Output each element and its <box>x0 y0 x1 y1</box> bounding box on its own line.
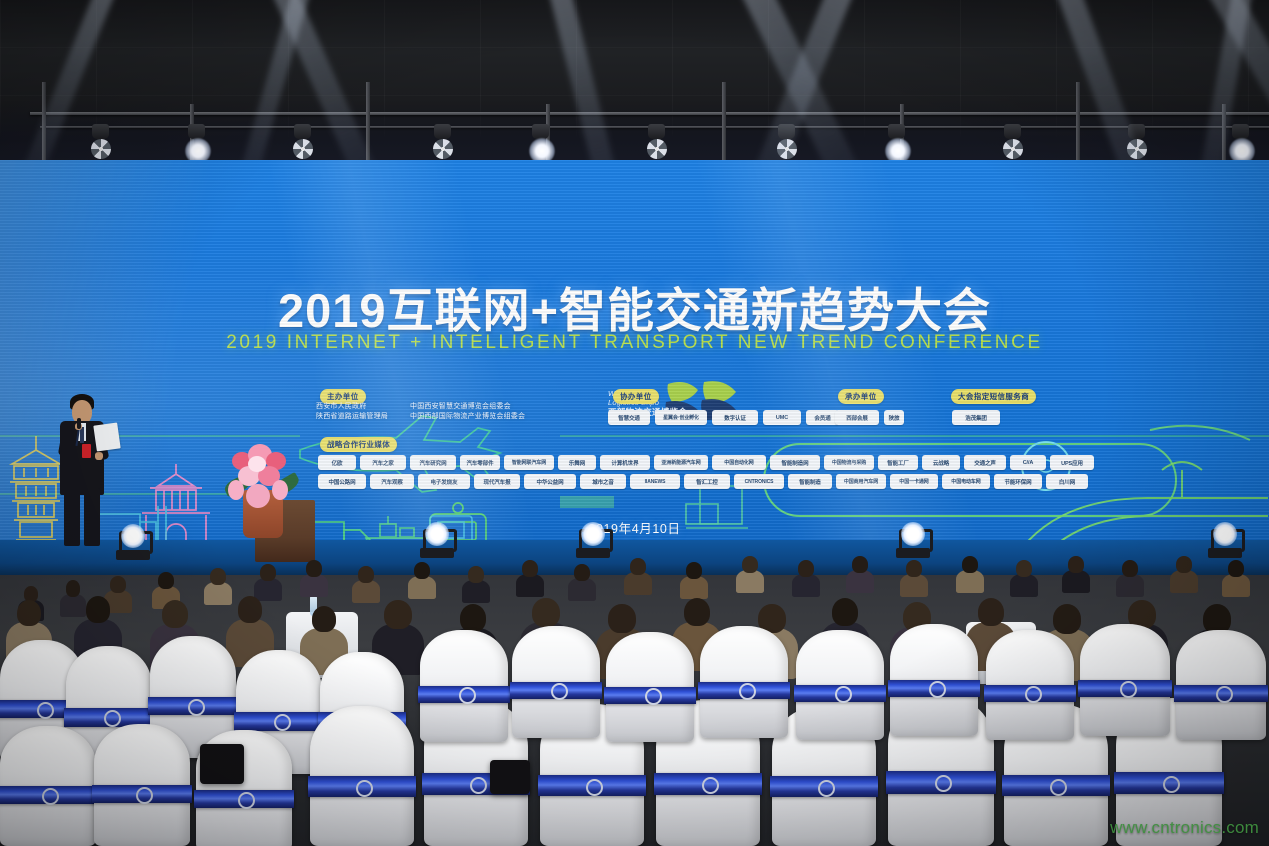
audience-body <box>516 574 544 597</box>
lamp-housing <box>188 124 205 139</box>
speaker-leg <box>64 488 80 546</box>
par-light <box>91 139 111 159</box>
audience-head <box>306 560 322 577</box>
audience-member <box>956 556 984 592</box>
par-light <box>777 139 797 159</box>
sash-buckle <box>459 687 476 704</box>
truss-post <box>1222 104 1226 166</box>
audience-body <box>568 578 596 601</box>
light-head <box>581 522 605 546</box>
audience-member <box>1222 560 1250 596</box>
par-light <box>293 139 313 159</box>
media-logo-chip: 中华公益网 <box>524 474 576 489</box>
audience-body <box>846 570 874 593</box>
audience-head <box>522 560 538 577</box>
media-logo-chip: C//A <box>1010 455 1046 470</box>
audience-head <box>574 564 590 581</box>
audience-head <box>684 598 710 626</box>
chair <box>700 626 788 738</box>
media-logo-chip: 交通之声 <box>964 455 1006 470</box>
audience-body <box>956 570 984 593</box>
chair <box>512 626 600 738</box>
media-logo-chip: 汽车研究网 <box>410 455 456 470</box>
audience-head <box>238 596 263 623</box>
audience-head <box>210 568 226 585</box>
chair <box>420 630 508 742</box>
lamp-housing <box>1004 124 1021 139</box>
sponsor-logo-chip: 数字认证 <box>712 410 758 425</box>
sash-buckle <box>835 686 852 703</box>
light-head <box>425 522 449 546</box>
media-logo-chip: 汽车零部件 <box>460 455 500 470</box>
audience-body <box>680 576 708 599</box>
light-head <box>901 522 925 546</box>
lamp-housing <box>434 124 451 139</box>
speaker-leg <box>84 488 100 546</box>
audience-head <box>66 580 81 597</box>
audience-head <box>162 600 188 628</box>
lamp-housing <box>888 124 905 139</box>
media-logo-chip: 中国商用汽车网 <box>836 474 886 489</box>
audience-member <box>462 566 490 602</box>
truss-post <box>722 82 726 166</box>
moving-head-light <box>1208 518 1242 558</box>
audience-member <box>1116 560 1144 596</box>
audience-head <box>312 606 337 632</box>
audience-body <box>408 576 436 599</box>
led-scanlines <box>0 160 1269 562</box>
chair <box>986 630 1074 740</box>
flower-petal <box>272 480 288 500</box>
audience-member <box>680 562 708 598</box>
audience-member <box>408 562 436 598</box>
media-logo-chip: 智能制造网 <box>770 455 820 470</box>
moving-head-light <box>116 520 150 560</box>
pill-co-organizer: 协办单位 <box>613 389 659 404</box>
audience-head <box>1068 556 1084 573</box>
truss-post <box>1076 82 1080 166</box>
sash-buckle <box>551 683 568 700</box>
audience-head <box>686 562 702 579</box>
moving-head-light <box>420 518 454 558</box>
pill-sms-provider: 大会指定短信服务商 <box>951 389 1036 404</box>
watermark: www.cntronics.com <box>1110 818 1259 838</box>
audience-head <box>414 562 430 579</box>
media-logo-chip: 智能工厂 <box>878 455 918 470</box>
media-logo-chip: 智汇工控 <box>684 474 730 489</box>
sash-buckle <box>702 777 719 794</box>
audience-member <box>624 558 652 594</box>
audience-body <box>1170 570 1198 593</box>
conference-photo: Western Logistics Expo 西部物流交通博览会 2019互联网… <box>0 0 1269 846</box>
sash-buckle <box>1120 681 1137 698</box>
handbag <box>490 760 530 794</box>
lamp-housing <box>532 124 549 139</box>
media-logo-chip: 亚洲新能源汽车网 <box>654 455 708 470</box>
audience-head <box>1122 560 1138 577</box>
par-light <box>433 139 453 159</box>
audience-head <box>742 556 758 573</box>
media-logo-chip: UPS应用 <box>1050 455 1094 470</box>
sash-buckle <box>739 683 756 700</box>
audience-head <box>110 576 126 593</box>
sash-buckle <box>586 779 603 796</box>
sash-buckle <box>929 681 946 698</box>
sash-buckle <box>645 688 662 705</box>
media-logo-chip: 汽车观察 <box>370 474 414 489</box>
flower-petal <box>228 480 244 500</box>
media-logo-chip: 中国一卡通网 <box>890 474 938 489</box>
media-logo-chip: 计算机世界 <box>600 455 650 470</box>
event-date: 2019年4月10日 <box>0 520 1269 538</box>
lamp-housing <box>778 124 795 139</box>
chair <box>94 724 190 846</box>
truss-post <box>366 82 370 166</box>
light-head <box>121 524 145 548</box>
truss-bar-upper <box>30 112 1269 115</box>
chair <box>606 632 694 742</box>
speaker-hand <box>95 452 103 460</box>
audience-head <box>1176 556 1192 573</box>
audience-body <box>462 580 490 603</box>
media-logo-chip: CNTRONICS <box>734 474 784 489</box>
lamp-housing <box>1232 124 1249 139</box>
speech-papers <box>93 422 120 451</box>
media-logo-chip: 智能网联汽车网 <box>504 455 554 470</box>
sash-buckle <box>1025 686 1042 703</box>
audience-head <box>460 604 486 632</box>
audience-body <box>1062 570 1090 593</box>
sponsor-logo-chip: 智慧交通 <box>608 410 650 425</box>
sash-buckle <box>470 777 487 794</box>
audience-member <box>300 560 328 596</box>
media-logo-chip: 智能制造 <box>788 474 832 489</box>
media-logo-chip: 亿欧 <box>318 455 356 470</box>
audience-head <box>532 598 559 627</box>
audience-body <box>900 574 928 597</box>
pill-host: 承办单位 <box>838 389 884 404</box>
media-logo-chip: 现代汽车报 <box>474 474 520 489</box>
audience-body <box>1010 574 1038 597</box>
moving-head-light <box>896 518 930 558</box>
media-logo-chip: 中国物流与采购 <box>824 455 874 470</box>
chair <box>890 624 978 736</box>
flower-petal <box>248 456 266 472</box>
sash-buckle <box>935 775 952 792</box>
audience-member <box>352 566 380 602</box>
audience-member <box>736 556 764 592</box>
audience-member <box>1010 560 1038 596</box>
chair <box>1080 624 1170 736</box>
par-light <box>647 139 667 159</box>
high-speed-rail-green-art <box>764 426 1250 516</box>
audience-head <box>630 558 646 575</box>
page-title: 2019互联网+智能交通新趋势大会 <box>0 272 1269 341</box>
sash-buckle <box>1216 686 1233 703</box>
audience-head <box>1228 560 1244 577</box>
lamp-housing <box>1128 124 1145 139</box>
audience-member <box>516 560 544 596</box>
audience-body <box>1116 574 1144 597</box>
led-backdrop-screen: Western Logistics Expo 西部物流交通博览会 2019互联网… <box>0 160 1269 562</box>
audience-member <box>1170 556 1198 592</box>
media-logo-chip: 中国自动化网 <box>712 455 766 470</box>
moving-head-light <box>576 518 610 558</box>
audience-head <box>852 556 868 573</box>
organizer-line-2: 陕西省道路运输管理局 <box>316 412 388 423</box>
media-logo-chip: 中国电动车网 <box>942 474 990 489</box>
audience-member <box>792 560 820 596</box>
audience-head <box>798 560 814 577</box>
media-logo-chip: 中国公路网 <box>318 474 366 489</box>
sash-buckle <box>188 699 205 716</box>
audience-member <box>900 560 928 596</box>
audience-body <box>1222 574 1250 597</box>
audience-head <box>978 598 1004 626</box>
audience-head <box>158 572 174 589</box>
audience-head <box>832 598 858 626</box>
expo-logo: Western Logistics Expo 西部物流交通博览会 <box>608 378 748 434</box>
sponsor-logo-chip: 浩茂集团 <box>952 410 1000 425</box>
lamp-housing <box>294 124 311 139</box>
audience-head <box>17 600 41 626</box>
organizer-line-4: 中国西部国际物流产业博览会组委会 <box>410 412 525 423</box>
par-light <box>1127 139 1147 159</box>
led-light-sheen <box>0 160 1269 562</box>
sash-buckle <box>818 780 835 797</box>
media-logo-chip: 节能环保网 <box>994 474 1042 489</box>
audience-head <box>468 566 484 583</box>
sponsor-logo-chip: 陕旅 <box>884 410 904 425</box>
par-light <box>1003 139 1023 159</box>
audience-head <box>260 564 276 581</box>
audience-head <box>962 556 978 573</box>
audience-head <box>1016 560 1032 577</box>
audience-member <box>568 564 596 600</box>
pill-media-partners: 战略合作行业媒体 <box>320 437 397 452</box>
sponsor-logo-chip: UMC <box>763 410 801 425</box>
chair <box>1176 630 1266 740</box>
media-logo-chip: 城市之音 <box>580 474 626 489</box>
truss-post <box>42 82 46 166</box>
chair <box>0 726 96 846</box>
audience-body <box>624 572 652 595</box>
audience-member <box>254 564 282 600</box>
sash-buckle <box>37 702 54 719</box>
media-logo-chip: 汽车之家 <box>360 455 406 470</box>
audience-body <box>300 574 328 597</box>
speaker-badge <box>82 444 91 458</box>
microphone <box>77 418 81 429</box>
sash-buckle <box>356 780 373 797</box>
audience-body <box>736 570 764 593</box>
sash-buckle <box>274 714 291 731</box>
audience-head <box>86 596 111 623</box>
sash-buckle <box>1163 776 1180 793</box>
page-subtitle: 2019 INTERNET + INTELLIGENT TRANSPORT NE… <box>0 332 1269 354</box>
lamp-housing <box>648 124 665 139</box>
light-head <box>1213 522 1237 546</box>
media-logo-chip: 白川网 <box>1046 474 1088 489</box>
lamp-housing <box>92 124 109 139</box>
audience-member <box>1062 556 1090 592</box>
media-logo-chip: 云战略 <box>922 455 960 470</box>
flower-petal <box>246 484 270 508</box>
audience-head <box>384 600 411 629</box>
media-logo-chip: IIANEWS <box>630 474 680 489</box>
chair <box>796 630 884 740</box>
handbag <box>200 744 244 784</box>
sponsor-logo-chip: 星翼会·创业孵化 <box>655 410 707 425</box>
media-logo-chip: 电子发烧友 <box>418 474 470 489</box>
audience-head <box>358 566 374 583</box>
audience-head <box>906 560 922 577</box>
chair <box>310 706 414 846</box>
sponsor-logo-chip: 西部会展 <box>835 410 879 425</box>
audience-head <box>608 604 635 633</box>
audience-body <box>792 574 820 597</box>
audience-member <box>846 556 874 592</box>
media-logo-chip: 乐舞网 <box>558 455 596 470</box>
sash-buckle <box>1050 779 1067 796</box>
